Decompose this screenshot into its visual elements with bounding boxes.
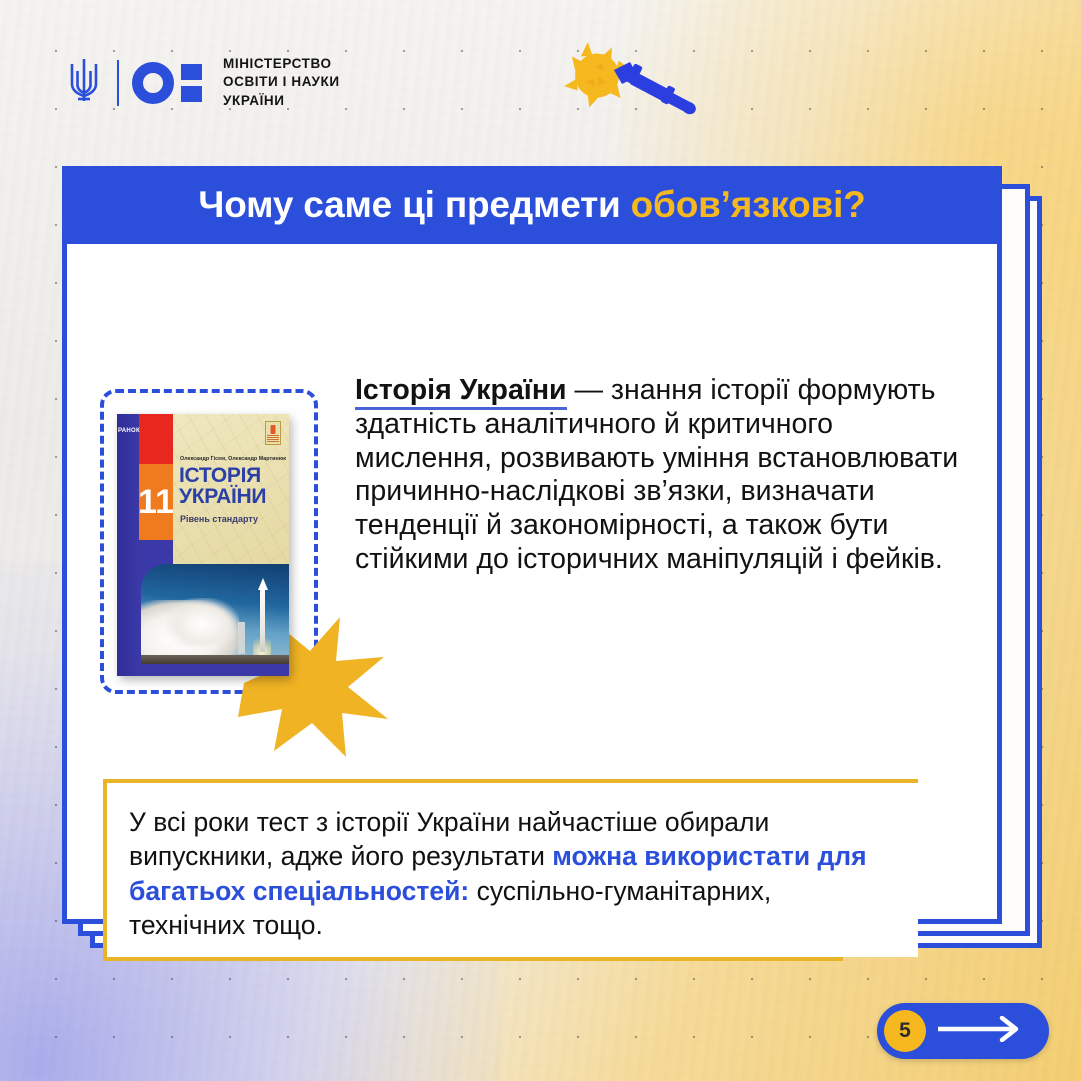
slide-number-badge: 5: [884, 1010, 926, 1052]
page-title-highlight: обов’язкові?: [631, 184, 866, 225]
arrow-right-icon[interactable]: [936, 1016, 1028, 1047]
book-title: ІСТОРІЯ УКРАЇНИ: [179, 466, 266, 508]
book-publisher-block: [139, 414, 173, 464]
ukraine-trident-icon: [64, 54, 104, 111]
subject-term: Історія України: [355, 374, 567, 410]
highlight-note-box: У всі роки тест з історії України найчас…: [103, 779, 918, 957]
ministry-line-1: МІНІСТЕРСТВО: [223, 55, 340, 73]
ministry-line-3: УКРАЇНИ: [223, 92, 340, 110]
page-title: Чому саме ці предмети обов’язкові?: [198, 184, 865, 226]
book-title-line-1: ІСТОРІЯ: [179, 466, 266, 487]
book-authors: Олександр Гісем, Олександр Мартинюк: [180, 456, 286, 462]
content-card: Чому саме ці предмети обов’язкові? РАНОК…: [62, 166, 1002, 924]
book-spine: [117, 414, 139, 676]
ministry-logo: МІНІСТЕРСТВО ОСВІТИ І НАУКИ УКРАЇНИ: [64, 54, 340, 111]
bulava-mace-icon: [552, 42, 702, 127]
book-subtitle: Рівень стандарту: [180, 514, 258, 524]
book-corner-badge-icon: [265, 421, 281, 445]
card-body: РАНОК 11 Олександр Гісем, Олександр Март…: [62, 244, 1002, 924]
book-grade-number: 11: [139, 464, 173, 540]
book-title-line-2: УКРАЇНИ: [179, 487, 266, 508]
book-publisher-label: РАНОК: [117, 428, 142, 434]
note-text: У всі роки тест з історії України найчас…: [129, 805, 892, 943]
logo-divider: [117, 60, 119, 106]
slide-root: МІНІСТЕРСТВО ОСВІТИ І НАУКИ УКРАЇНИ: [0, 0, 1081, 1081]
next-slide-button[interactable]: 5: [877, 1003, 1049, 1059]
card-header-bar: Чому саме ці предмети обов’язкові?: [62, 166, 1002, 244]
main-paragraph: Історія України — знання історії формуют…: [355, 374, 975, 577]
ministry-line-2: ОСВІТИ І НАУКИ: [223, 73, 340, 91]
mon-o-logomark-icon: [132, 62, 202, 104]
book-cover-photo: [141, 564, 289, 664]
ministry-logo-text: МІНІСТЕРСТВО ОСВІТИ І НАУКИ УКРАЇНИ: [223, 55, 340, 110]
page-title-plain: Чому саме ці предмети: [198, 184, 630, 225]
history-textbook-cover: РАНОК 11 Олександр Гісем, Олександр Март…: [117, 414, 289, 676]
